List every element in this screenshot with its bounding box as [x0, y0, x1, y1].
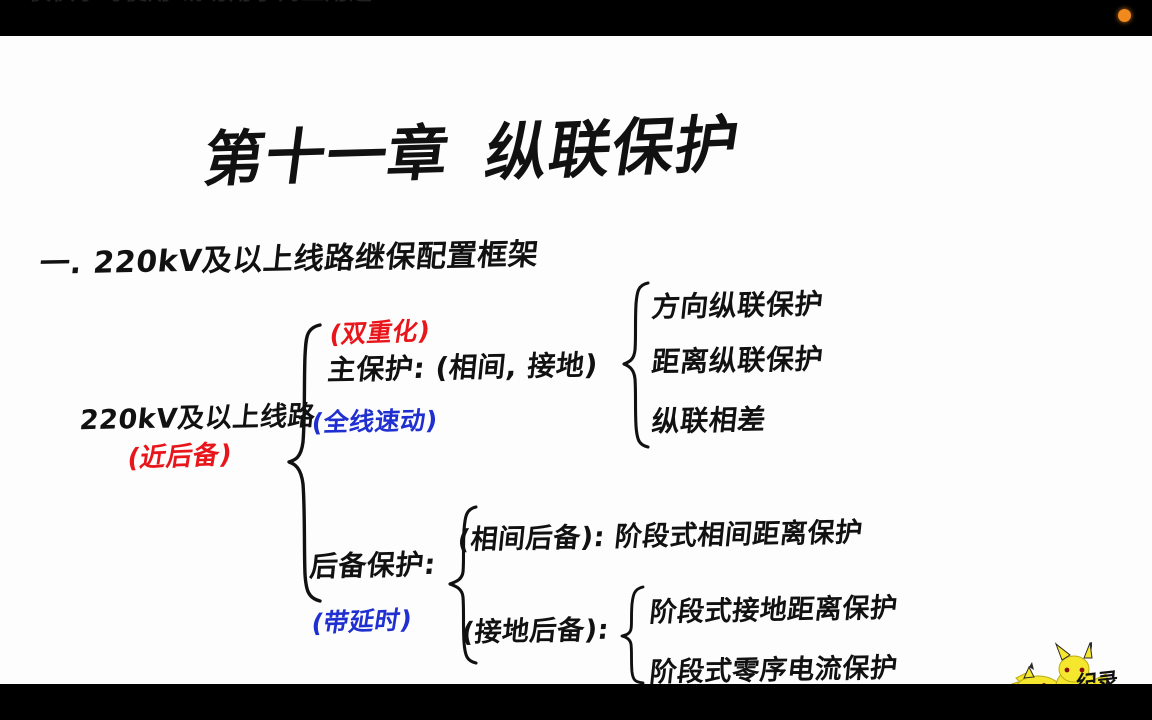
main-protection-note-bottom: (全线速动) — [310, 401, 440, 439]
pilot-item-1: 距离纵联保护 — [650, 337, 825, 380]
topic-title: 纵联保护 — [480, 93, 747, 193]
letterbox-bottom — [0, 684, 1152, 720]
chapter-title: 第十一章 — [199, 104, 455, 198]
ground-backup-item-1: 阶段式零序电流保护 — [648, 646, 900, 684]
backup-protection-note: (带延时) — [309, 600, 415, 640]
main-protection-note-top: (双重化) — [327, 311, 433, 351]
diagram-root-note: (近后备) — [125, 434, 235, 475]
pilot-item-2: 纵联相差 — [650, 398, 768, 440]
main-protection-label: 主保护: (相间, 接地) — [326, 343, 600, 388]
letterbox-top: 仅供学习使用 请勿用于商业用途 bilibili — [0, 0, 1152, 36]
watermark-text: 仅供学习使用 请勿用于商业用途 — [28, 0, 373, 6]
ground-backup-label: (接地后备): — [460, 608, 611, 650]
recording-indicator-icon — [1118, 9, 1131, 22]
section-heading: 一. 220kV及以上线路继保配置框架 — [38, 229, 542, 283]
ground-backup-item-0: 阶段式接地距离保护 — [648, 586, 900, 630]
diagram-root-label: 220kV及以上线路 — [78, 394, 318, 438]
ground-backup-brace — [620, 584, 650, 684]
mascot-signature: 纪录 — [1076, 664, 1119, 684]
whiteboard-canvas: 第十一章 纵联保护 一. 220kV及以上线路继保配置框架 220kV及以上线路… — [0, 36, 1152, 684]
bilibili-watermark: 仅供学习使用 请勿用于商业用途 bilibili — [28, 0, 499, 6]
video-player-stage: 第十一章 纵联保护 一. 220kV及以上线路继保配置框架 220kV及以上线路… — [0, 0, 1152, 720]
mascot-pikachu: 纪录 — [998, 642, 1138, 684]
watermark-logo: bilibili — [389, 0, 499, 6]
backup-protection-label: 后备保护: — [308, 543, 438, 586]
phase-backup-line: (相间后备): 阶段式相间距离保护 — [456, 510, 865, 557]
pilot-item-0: 方向纵联保护 — [650, 282, 825, 325]
